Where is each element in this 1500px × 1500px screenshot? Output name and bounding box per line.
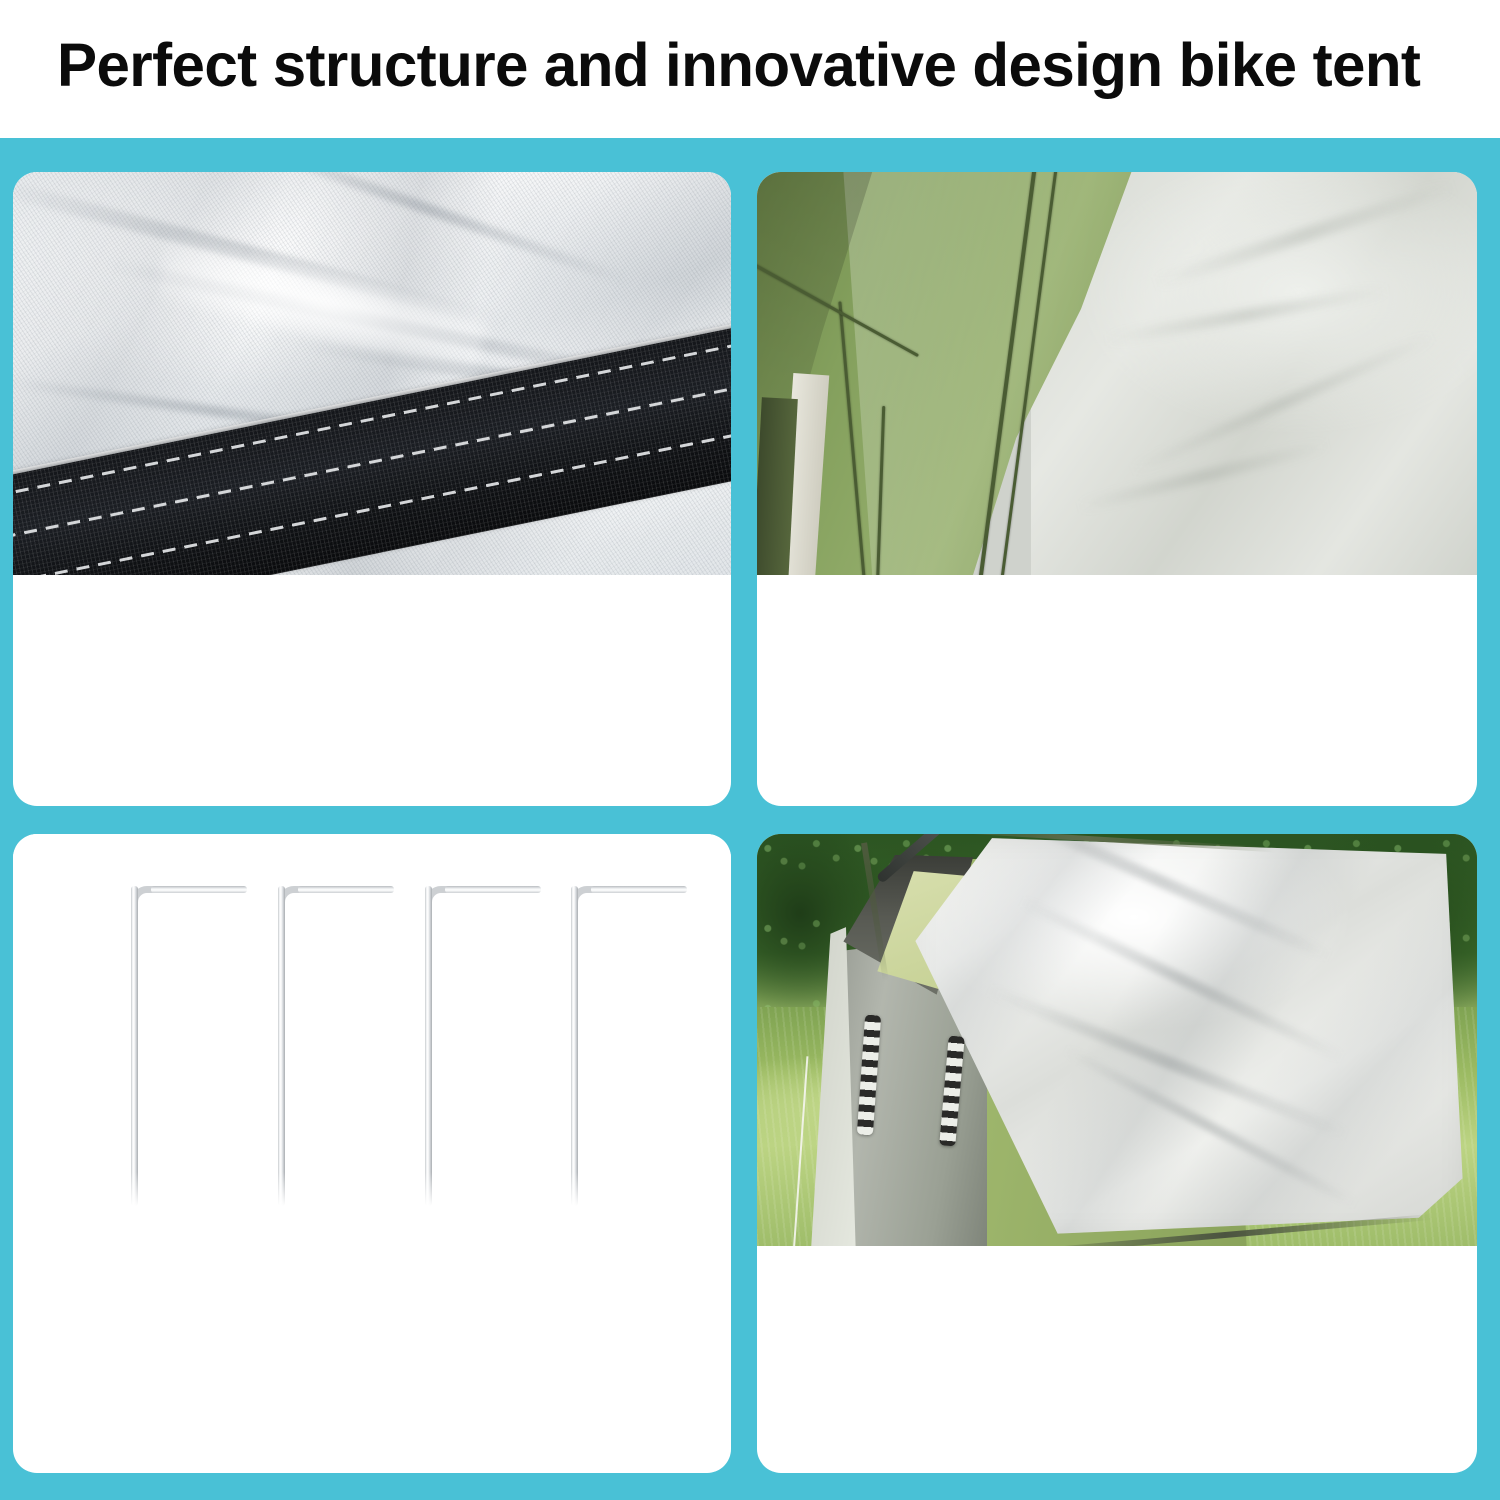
wind-proof-nail-photo bbox=[13, 834, 731, 1246]
stake-hook bbox=[151, 886, 247, 893]
silver-coating-photo bbox=[13, 172, 731, 575]
feature-board: Three-layer silver coating Sunburn prote… bbox=[0, 138, 1500, 1500]
stake-hook bbox=[591, 886, 687, 893]
stake-shaft bbox=[278, 886, 285, 1206]
stake-hook bbox=[298, 886, 394, 893]
stakes-scene bbox=[13, 834, 731, 1246]
infographic-page: Perfect structure and innovative design … bbox=[0, 0, 1500, 1500]
stake-hook bbox=[445, 886, 541, 893]
header-bar: Perfect structure and innovative design … bbox=[0, 0, 1500, 138]
page-title: Perfect structure and innovative design … bbox=[57, 27, 1436, 103]
feature-card-removable-rain-cover[interactable]: Removable rain cover We cover the zipper… bbox=[757, 834, 1477, 1473]
rainguard-strip-photo bbox=[757, 172, 1477, 575]
outdoor-tent-scene bbox=[757, 834, 1477, 1246]
feature-card-wind-proof-nail[interactable]: Wind-proof nail And secure the bottom of… bbox=[13, 834, 731, 1473]
feature-card-three-layer-silver-coating[interactable]: Three-layer silver coating Sunburn prote… bbox=[13, 172, 731, 806]
stake-shaft bbox=[131, 886, 138, 1206]
stake-shaft bbox=[425, 886, 432, 1206]
removable-rain-cover-photo bbox=[757, 834, 1477, 1246]
feature-grid: Three-layer silver coating Sunburn prote… bbox=[13, 172, 1477, 1473]
feature-card-rainguard-strip[interactable]: Rainguard strip We cover the zipper to p… bbox=[757, 172, 1477, 806]
stake-shaft bbox=[571, 886, 578, 1206]
tent-seam-scene bbox=[757, 172, 1477, 575]
